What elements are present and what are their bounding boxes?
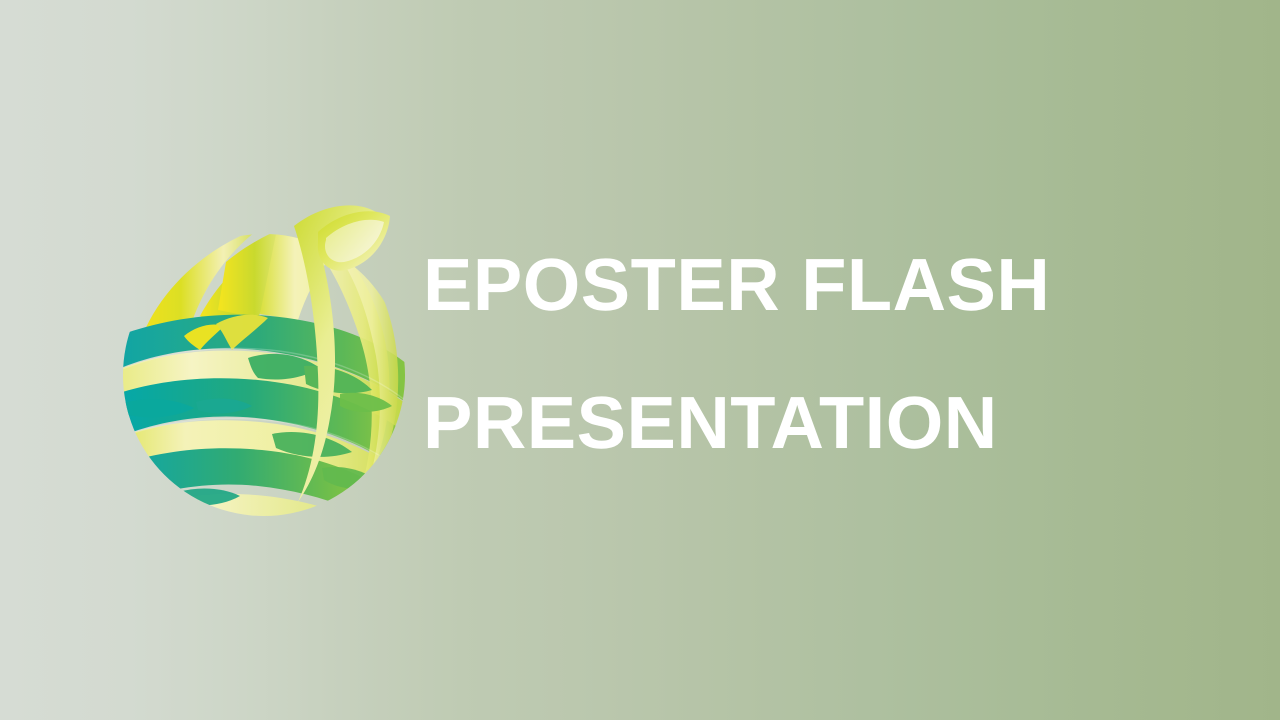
slide-canvas: EPOSTER FLASH PRESENTATION [0,0,1280,720]
title-block: EPOSTER FLASH PRESENTATION [423,248,1223,460]
title-line-2: PRESENTATION [423,386,1223,460]
globe-ribbon-leaf-logo [108,198,412,522]
title-line-1: EPOSTER FLASH [423,248,1223,322]
